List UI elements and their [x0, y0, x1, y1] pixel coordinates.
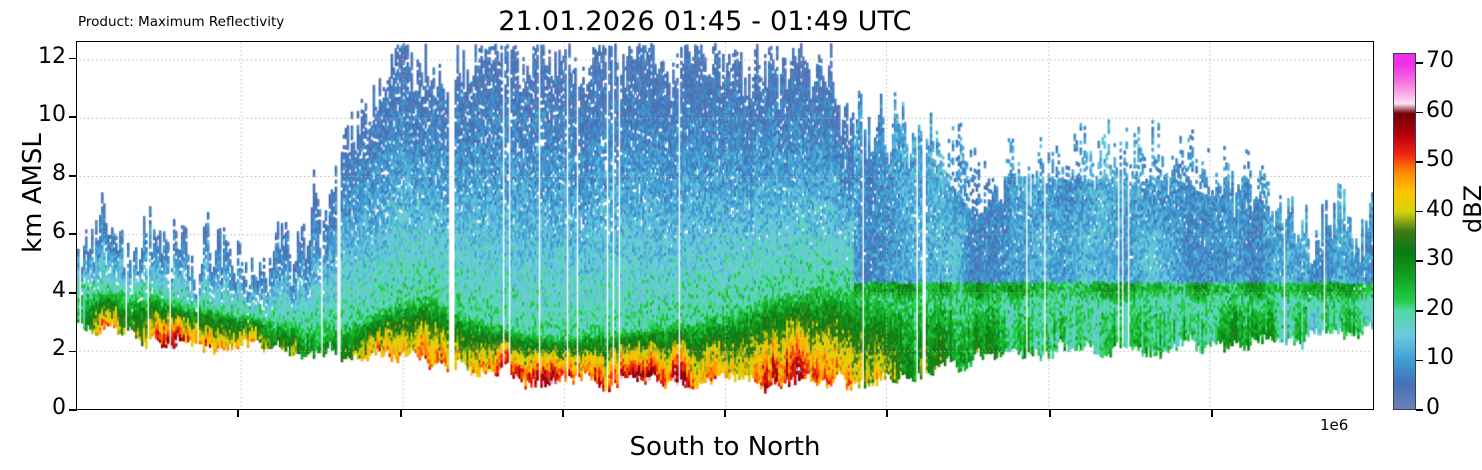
x-tick-mark	[886, 410, 888, 417]
colorbar-tick-mark	[1416, 62, 1423, 64]
y-tick-mark	[69, 58, 77, 60]
colorbar-tick-mark	[1416, 211, 1423, 213]
colorbar-tick-mark	[1416, 409, 1423, 411]
y-tick-mark	[69, 292, 77, 294]
y-tick-label: 4	[22, 278, 66, 303]
colorbar-label: dBZ	[1459, 134, 1482, 284]
x-tick-mark	[1049, 410, 1051, 417]
plot-area	[76, 41, 1374, 410]
x-axis-offset-text: 1e6	[1320, 416, 1348, 434]
y-tick-mark	[69, 409, 77, 411]
colorbar-gradient	[1393, 53, 1416, 410]
y-tick-mark	[69, 116, 77, 118]
y-tick-label: 0	[22, 395, 66, 420]
y-tick-label: 2	[22, 336, 66, 361]
colorbar	[1393, 53, 1416, 410]
x-axis-label: South to North	[76, 432, 1374, 462]
y-axis-label: km AMSL	[18, 108, 48, 278]
colorbar-tick-label: 10	[1426, 345, 1454, 370]
x-tick-mark	[562, 410, 564, 417]
x-tick-mark	[237, 410, 239, 417]
colorbar-tick-label: 30	[1426, 246, 1454, 271]
colorbar-tick-mark	[1416, 161, 1423, 163]
colorbar-tick-mark	[1416, 112, 1423, 114]
x-tick-mark	[400, 410, 402, 417]
radar-cross-section-figure: Product: Maximum Reflectivity 21.01.2026…	[0, 0, 1482, 470]
page-title: 21.01.2026 01:45 - 01:49 UTC	[0, 6, 1410, 37]
colorbar-tick-label: 50	[1426, 147, 1454, 172]
colorbar-tick-label: 0	[1426, 395, 1440, 420]
y-tick-mark	[69, 175, 77, 177]
colorbar-tick-mark	[1416, 260, 1423, 262]
y-tick-mark	[69, 351, 77, 353]
y-tick-mark	[69, 233, 77, 235]
colorbar-tick-mark	[1416, 310, 1423, 312]
colorbar-tick-label: 70	[1426, 48, 1454, 73]
x-tick-mark	[1211, 410, 1213, 417]
colorbar-tick-label: 20	[1426, 296, 1454, 321]
colorbar-tick-mark	[1416, 360, 1423, 362]
colorbar-tick-label: 40	[1426, 197, 1454, 222]
y-tick-label: 12	[22, 44, 66, 69]
x-tick-mark	[724, 410, 726, 417]
reflectivity-heatmap	[77, 42, 1373, 409]
colorbar-tick-label: 60	[1426, 98, 1454, 123]
